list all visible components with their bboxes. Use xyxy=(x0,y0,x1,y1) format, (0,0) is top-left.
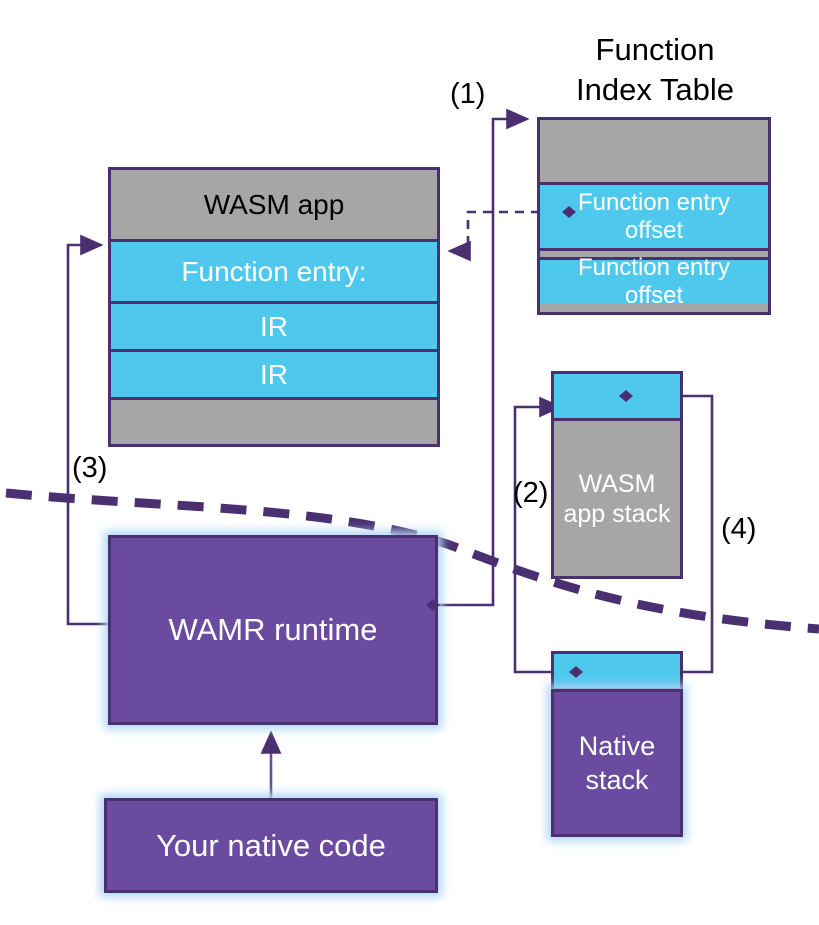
wasm-app-footer xyxy=(111,397,437,444)
wasm-app-stack-top-frame[interactable] xyxy=(554,374,680,418)
native-stack-top-frame[interactable] xyxy=(551,651,683,691)
function-index-table-entry-2[interactable]: Function entry offset xyxy=(540,257,768,303)
wasm-app-row-label: IR xyxy=(260,311,288,343)
wamr-runtime-label: WAMR runtime xyxy=(169,612,378,648)
wamr-runtime-box[interactable]: WAMR runtime xyxy=(108,535,438,725)
function-index-table-box[interactable]: Function entry offset Function entry off… xyxy=(537,117,771,315)
function-index-table-entry-1[interactable]: Function entry offset xyxy=(540,182,768,248)
your-native-code-label: Your native code xyxy=(156,828,386,864)
wasm-app-row-label: IR xyxy=(260,359,288,391)
native-stack-box[interactable]: Native stack xyxy=(551,689,683,837)
wasm-app-stack-label: WASM app stack xyxy=(563,469,670,529)
function-index-table-header-band xyxy=(540,120,768,182)
wasm-app-row-label: Function entry: xyxy=(181,256,366,288)
step-label-4: (4) xyxy=(721,513,756,545)
function-index-table-title: Function Index Table xyxy=(530,30,780,110)
function-index-table-entry-label: Function entry offset xyxy=(578,254,730,310)
native-stack-label: Native stack xyxy=(579,729,656,797)
wasm-app-row-function-entry[interactable]: Function entry: xyxy=(111,239,437,301)
wasm-app-stack-box[interactable]: WASM app stack xyxy=(551,371,683,579)
function-index-table-divider-2 xyxy=(540,303,768,312)
diagram-canvas: Function Index Table (1) (2) (3) (4) WAS… xyxy=(0,0,819,925)
your-native-code-box[interactable]: Your native code xyxy=(104,798,438,893)
wasm-app-header-label: WASM app xyxy=(204,189,345,221)
function-index-table-entry-label: Function entry offset xyxy=(578,189,730,245)
wasm-app-row-ir-1[interactable]: IR xyxy=(111,301,437,349)
step-label-3: (3) xyxy=(72,452,107,484)
step-label-1: (1) xyxy=(450,78,485,110)
wasm-app-row-ir-2[interactable]: IR xyxy=(111,349,437,397)
connector-3-runtime-to-function-entry xyxy=(68,245,108,624)
wasm-app-box[interactable]: WASM app Function entry: IR IR xyxy=(108,167,440,447)
connector-1-runtime-to-index-table xyxy=(426,119,527,610)
step-label-2: (2) xyxy=(513,477,548,509)
wasm-app-header: WASM app xyxy=(111,170,437,239)
wasm-app-stack-body: WASM app stack xyxy=(554,418,680,576)
